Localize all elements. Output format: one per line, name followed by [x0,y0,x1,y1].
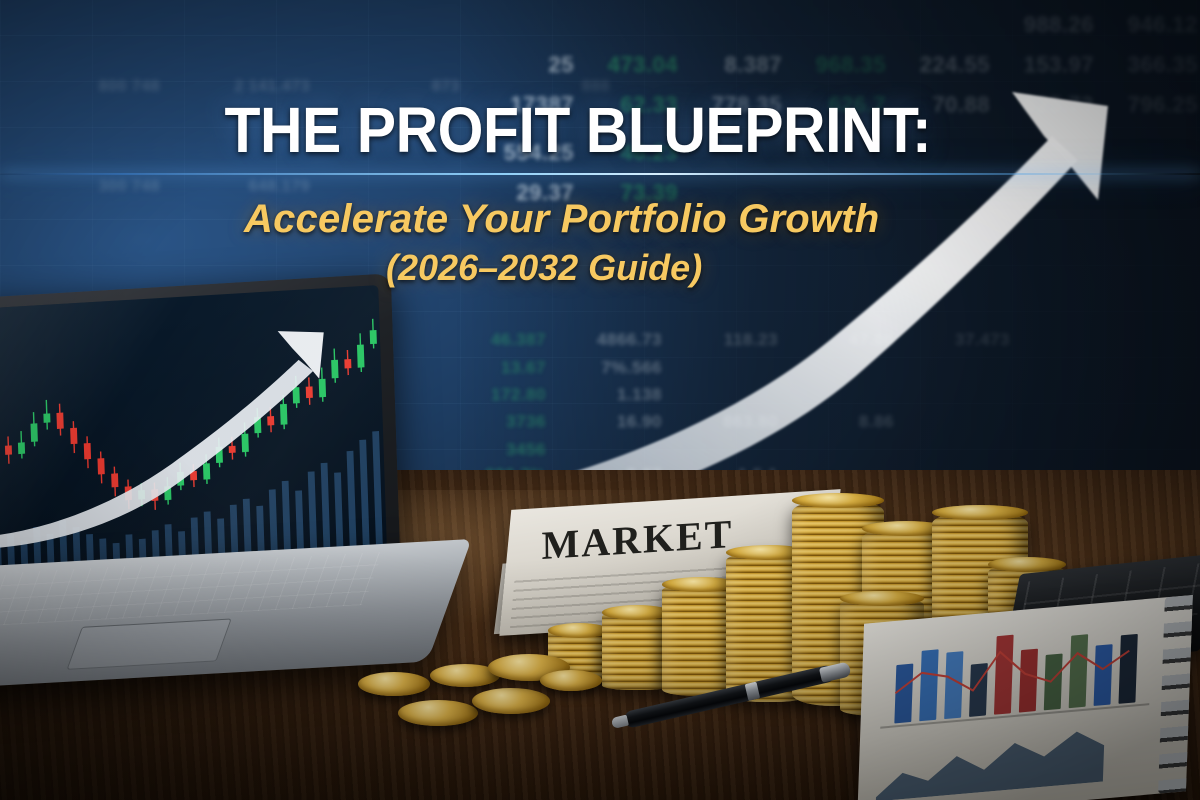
page-title: THE PROFIT BLUEPRINT: [0,100,1104,161]
title-divider [0,171,1200,176]
title-block: THE PROFIT BLUEPRINT: Accelerate Your Po… [0,100,1200,287]
banner-image: 800 7482 141.473873888300 748648.179 988… [0,0,1200,800]
subtitle-line-1: Accelerate Your Portfolio Growth [0,198,1200,240]
subtitle-line-2: (2026–2032 Guide) [0,249,1200,287]
